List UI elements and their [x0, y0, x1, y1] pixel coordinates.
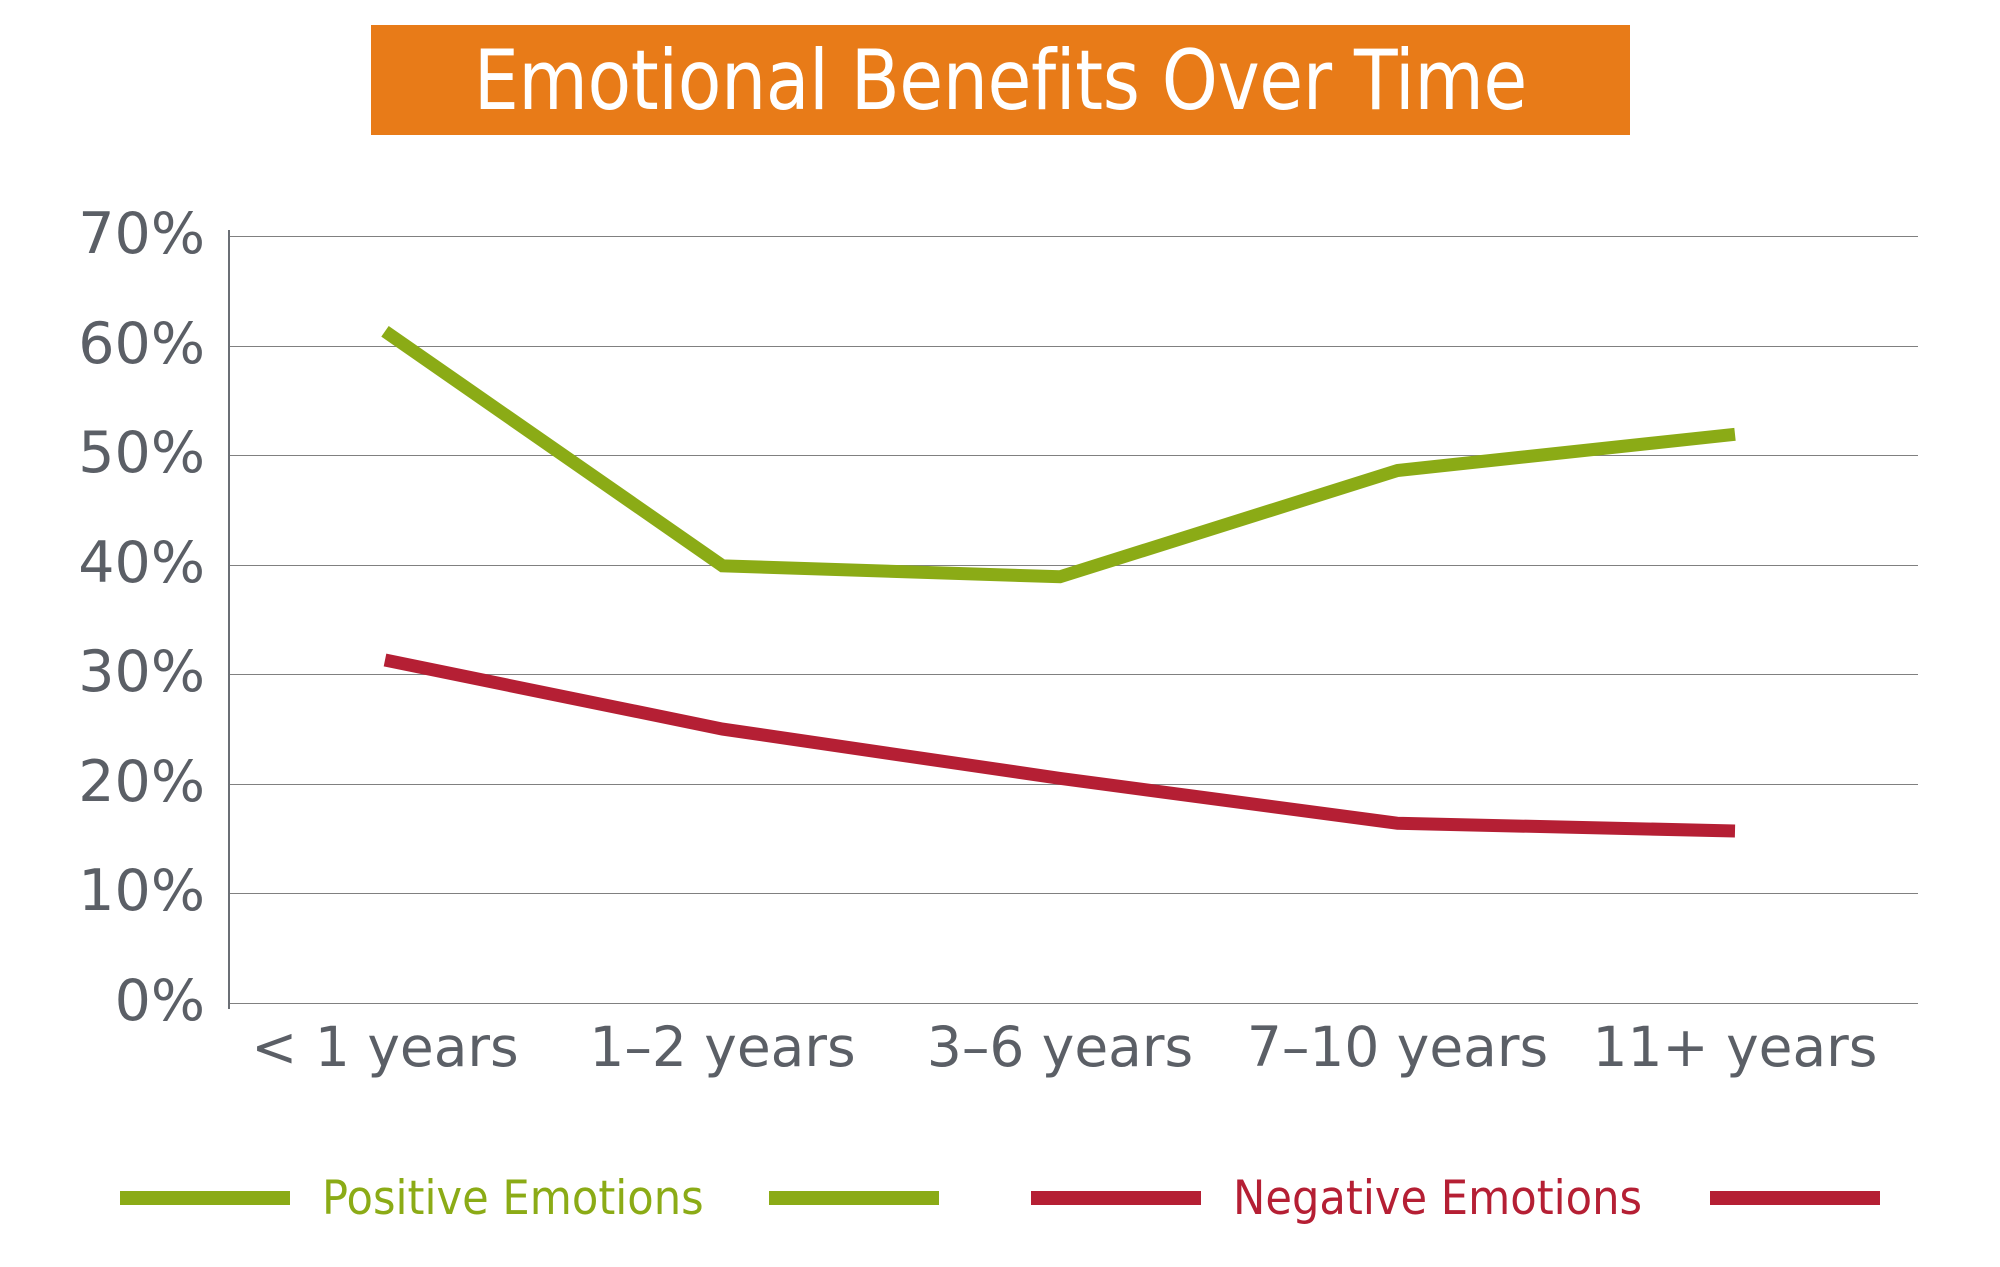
plot-wrapper: 70%60%50%40%30%20%10%0% < 1 years1–2 yea…	[0, 0, 2000, 1267]
legend-label-negative: Negative Emotions	[1233, 1175, 1642, 1222]
legend-swatch-positive-left	[120, 1191, 290, 1205]
chart-legend: Positive Emotions Negative Emotions	[0, 1168, 2000, 1228]
series-lines	[0, 0, 2000, 1267]
legend-label-positive: Positive Emotions	[322, 1175, 704, 1222]
chart-container: Emotional Benefits Over Time 70%60%50%40…	[0, 0, 2000, 1267]
series-line-negative-emotions	[385, 660, 1735, 831]
legend-swatch-positive-right	[769, 1191, 939, 1205]
series-line-positive-emotions	[385, 331, 1735, 576]
legend-swatch-negative-right	[1710, 1191, 1880, 1205]
legend-item-positive[interactable]: Positive Emotions	[120, 1175, 939, 1222]
legend-swatch-negative-left	[1031, 1191, 1201, 1205]
legend-item-negative[interactable]: Negative Emotions	[1031, 1175, 1880, 1222]
